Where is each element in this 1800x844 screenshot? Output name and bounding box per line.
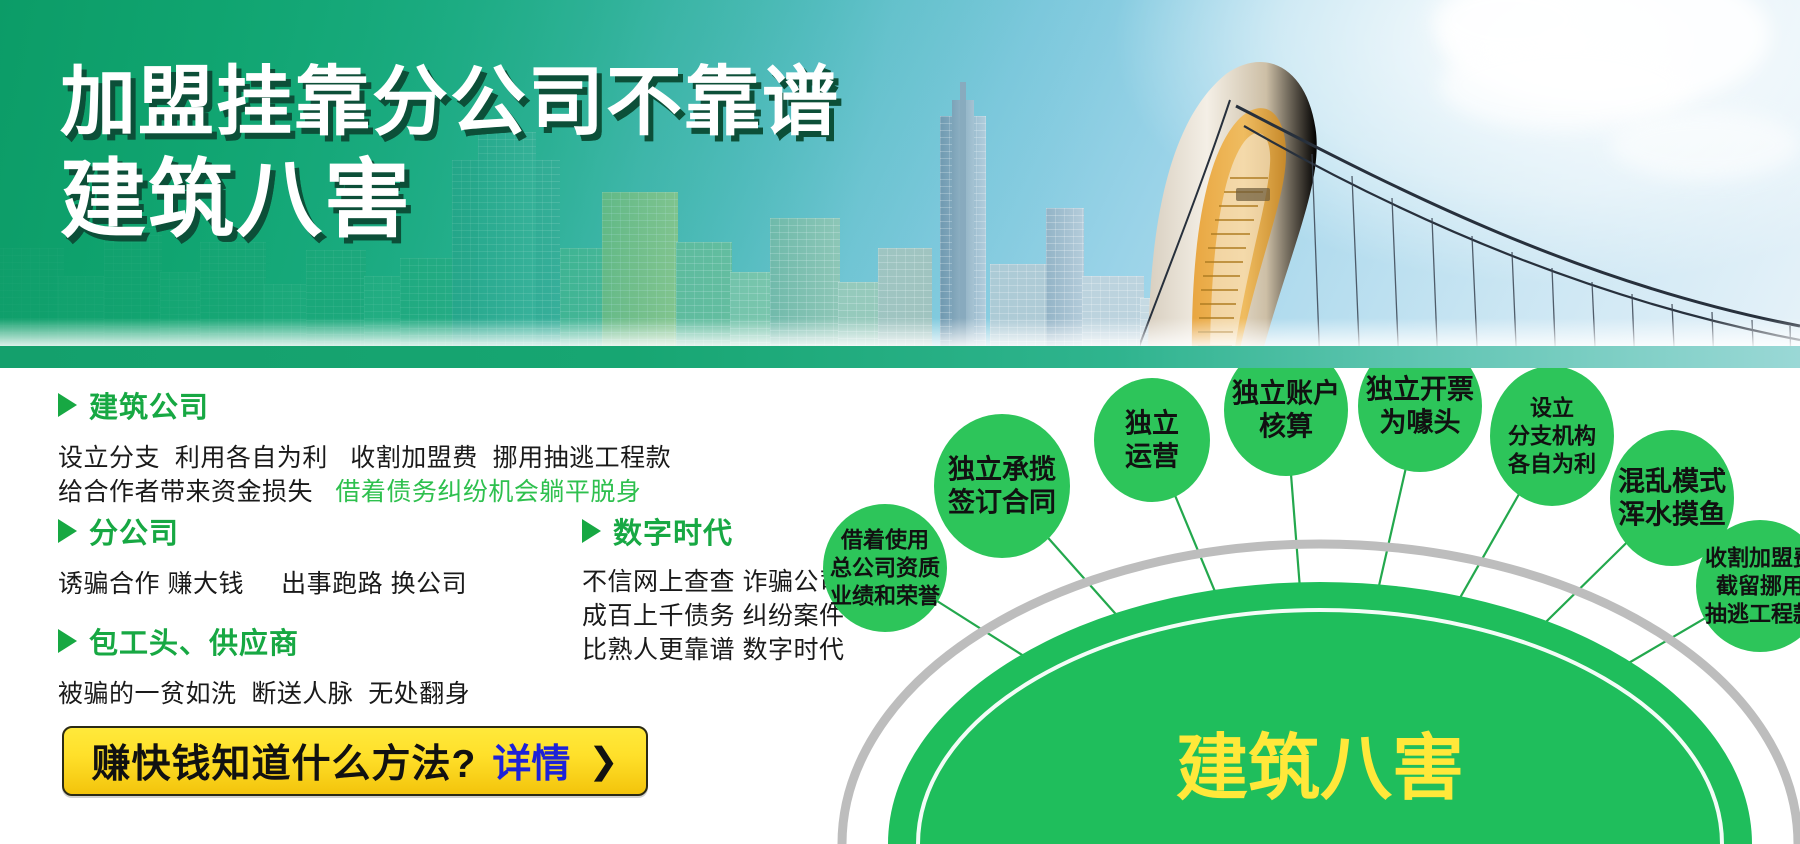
bubble-label-line: 独立 [1125,408,1179,439]
cta-button[interactable]: 赚快钱知道什么方法? 详情 ❯ [62,726,648,796]
poster-root: 加盟挂靠分公司不靠谱 建筑八害 建筑公司 设立分支 利用各自为利 收割加盟费 挪… [0,0,1800,844]
triangle-right-icon [58,393,77,417]
bubble-2[interactable]: 独立承揽签订合同 [934,414,1070,558]
section-header: 包工头、供应商 [58,620,470,662]
triangle-right-icon [58,629,77,653]
bubble-label-line: 独立承揽 [948,454,1056,485]
bubble-label-line: 分支机构 [1508,424,1596,449]
hero-title: 加盟挂靠分公司不靠谱 建筑八害 [60,62,840,247]
bubble-4[interactable]: 独立账户核算 [1224,368,1348,476]
section-title: 数字时代 [613,510,733,552]
bubble-label-line: 浑水摸鱼 [1618,500,1726,530]
section-header: 分公司 [58,510,467,552]
bubble-label-line: 各自为利 [1507,452,1596,477]
hero-fade [0,318,1800,346]
bubble-label-line: 独立账户 [1232,378,1340,409]
body-line: 被骗的一贫如洗 断送人脉 无处翻身 [58,677,470,711]
hero-banner: 加盟挂靠分公司不靠谱 建筑八害 [0,0,1800,368]
bubble-label-line: 收割加盟费 [1705,546,1800,571]
bubble-label-line: 核算 [1259,411,1313,442]
cta-detail-link[interactable]: 详情 [492,733,570,789]
section-body: 被骗的一贫如洗 断送人脉 无处翻身 [58,677,470,711]
hero-title-line2: 建筑八害 [60,154,840,247]
diagram-svg: 借着使用总公司资质业绩和荣誉独立承揽签订合同独立运营独立账户核算独立开票为噱头设… [800,368,1800,844]
bubble-label-line: 截留挪用 [1716,574,1800,599]
bubble-label-line: 运营 [1125,442,1179,472]
bubble-label-line: 独立开票 [1366,374,1474,405]
body-text: 给合作者带来资金损失 [58,478,313,506]
bubble-3[interactable]: 独立运营 [1094,378,1210,502]
building-eight-harms-diagram: 借着使用总公司资质业绩和荣誉独立承揽签订合同独立运营独立账户核算独立开票为噱头设… [800,368,1800,844]
section-body: 诱骗合作 赚大钱 出事跑路 换公司 [58,567,467,601]
hero-bottom-strip [0,346,1800,368]
body-line: 诱骗合作 赚大钱 出事跑路 换公司 [58,567,467,601]
left-content: 建筑公司 设立分支 利用各自为利 收割加盟费 挪用抽逃工程款 给合作者带来资金损… [0,368,820,844]
triangle-right-icon [58,519,77,543]
bubble-label-line: 借着使用 [840,528,929,553]
section-branch-company: 分公司 诱骗合作 赚大钱 出事跑路 换公司 [58,510,467,601]
triangle-right-icon [582,519,601,543]
bubble-label-line: 签订合同 [948,487,1056,518]
hero-title-line1: 加盟挂靠分公司不靠谱 [60,62,840,144]
bubble-shape [1094,378,1210,502]
cta-label: 赚快钱知道什么方法? [91,733,476,789]
section-body: 设立分支 利用各自为利 收割加盟费 挪用抽逃工程款 给合作者带来资金损失 借着债… [58,441,671,509]
bubble-label-line: 混乱模式 [1618,467,1726,497]
body-line: 给合作者带来资金损失 借着债务纠纷机会躺平脱身 [58,475,671,509]
body-line: 设立分支 利用各自为利 收割加盟费 挪用抽逃工程款 [58,441,671,475]
section-title: 分公司 [89,510,179,552]
bubble-shape [934,414,1070,558]
section-header: 建筑公司 [58,384,671,426]
chevron-right-icon: ❯ [588,740,618,782]
bubble-label-line: 总公司资质 [830,556,940,581]
body-text-highlight: 借着债务纠纷机会躺平脱身 [335,478,641,506]
section-foreman-supplier: 包工头、供应商 被骗的一贫如洗 断送人脉 无处翻身 [58,620,470,711]
dome-label: 建筑八害 [1176,729,1464,809]
section-title: 包工头、供应商 [89,620,299,662]
bubble-5[interactable]: 独立开票为噱头 [1358,368,1482,472]
bubble-label-line: 抽逃工程款 [1705,602,1800,627]
bubble-label-line: 为噱头 [1380,408,1461,438]
bubble-label-line: 业绩和荣誉 [830,584,941,609]
section-title: 建筑公司 [89,384,209,426]
bubble-6[interactable]: 设立分支机构各自为利 [1490,368,1614,506]
section-building-company: 建筑公司 设立分支 利用各自为利 收割加盟费 挪用抽逃工程款 给合作者带来资金损… [58,384,671,509]
bubble-1[interactable]: 借着使用总公司资质业绩和荣誉 [823,504,947,632]
bubble-label-line: 设立 [1530,396,1574,421]
